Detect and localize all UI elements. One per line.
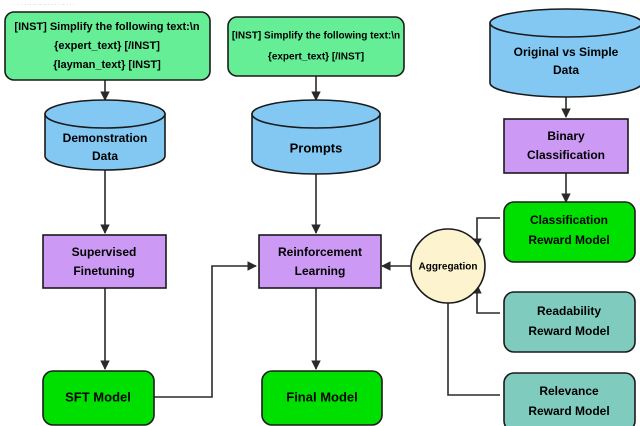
sft-prompt-template-line-1: [INST] Simplify the following text:\n — [14, 21, 199, 33]
demonstration-data-top — [45, 100, 165, 128]
node-original-vs-simple-data: Original vs Simple Data — [490, 9, 640, 97]
node-final-model: Final Model — [262, 371, 382, 425]
demonstration-data-line-1: Demonstration — [63, 131, 148, 145]
binary-classification-shape — [504, 119, 628, 173]
reinforcement-learning-shape — [259, 235, 381, 288]
original-vs-simple-data-line-2: Data — [553, 63, 579, 77]
prompts-top — [252, 100, 380, 128]
binary-classification-line-1: Binary — [547, 129, 585, 143]
node-supervised-finetuning: Supervised Finetuning — [43, 235, 166, 288]
node-prompts: Prompts — [252, 100, 380, 174]
node-reinforcement-learning: Reinforcement Learning — [259, 235, 381, 288]
readability-reward-model-line-2: Reward Model — [528, 324, 609, 338]
node-rl-prompt-template: [INST] Simplify the following text:\n {e… — [228, 17, 404, 76]
edge-relevance-reward-model-to-aggregation — [448, 294, 500, 395]
sft-prompt-template-line-3: {layman_text} [INST] — [53, 59, 161, 71]
clipped-text-glyphs: . . . .. .. .. .. . . . . .. . . . — [18, 1, 75, 7]
rl-prompt-template-line-1: [INST] Simplify the following text:\n — [232, 31, 400, 42]
classification-reward-model-line-2: Reward Model — [528, 233, 609, 247]
node-binary-classification: Binary Classification — [504, 119, 628, 173]
rl-prompt-template-line-2: {expert_text} [/INST] — [268, 52, 364, 63]
sft-prompt-template-line-2: {expert_text} [/INST] — [54, 40, 160, 52]
node-classification-reward-model: Classification Reward Model — [504, 202, 635, 262]
demonstration-data-line-2: Data — [92, 149, 118, 163]
reinforcement-learning-line-1: Reinforcement — [278, 245, 362, 259]
rl-prompt-template-shape — [228, 17, 404, 76]
original-vs-simple-data-top — [490, 9, 640, 37]
clipped-top-text: . . . .. .. .. .. . . . . .. . . . — [0, 0, 640, 8]
node-aggregation: Aggregation — [411, 229, 485, 303]
final-model-label: Final Model — [286, 389, 358, 404]
supervised-finetuning-line-2: Finetuning — [73, 264, 134, 278]
binary-classification-line-2: Classification — [527, 148, 605, 162]
readability-reward-model-shape — [504, 292, 635, 352]
readability-reward-model-line-1: Readability — [537, 304, 601, 318]
edge-readability-reward-model-to-aggregation — [477, 285, 500, 313]
relevance-reward-model-line-1: Relevance — [539, 384, 599, 398]
reinforcement-learning-line-2: Learning — [295, 264, 346, 278]
node-readability-reward-model: Readability Reward Model — [504, 292, 635, 352]
aggregation-label: Aggregation — [419, 262, 478, 273]
edge-classification-reward-model-to-aggregation — [477, 218, 500, 247]
sft-model-label: SFT Model — [65, 389, 131, 404]
node-sft-model: SFT Model — [43, 371, 154, 425]
classification-reward-model-line-1: Classification — [530, 213, 608, 227]
original-vs-simple-data-line-1: Original vs Simple — [514, 45, 619, 59]
edge-sft-model-to-reinforcement-learning — [153, 266, 256, 397]
supervised-finetuning-line-1: Supervised — [72, 245, 137, 259]
classification-reward-model-shape — [504, 202, 635, 262]
prompts-label: Prompts — [290, 140, 343, 155]
node-relevance-reward-model: Relevance Reward Model — [504, 373, 635, 426]
supervised-finetuning-shape — [43, 235, 166, 288]
diagram-canvas: . . . .. .. .. .. . . . . .. . . . [INST… — [0, 0, 640, 426]
relevance-reward-model-line-2: Reward Model — [528, 404, 609, 418]
flowchart-svg: . . . .. .. .. .. . . . . .. . . . [INST… — [0, 0, 640, 426]
node-sft-prompt-template: [INST] Simplify the following text:\n {e… — [5, 12, 210, 80]
node-demonstration-data: Demonstration Data — [45, 100, 165, 170]
